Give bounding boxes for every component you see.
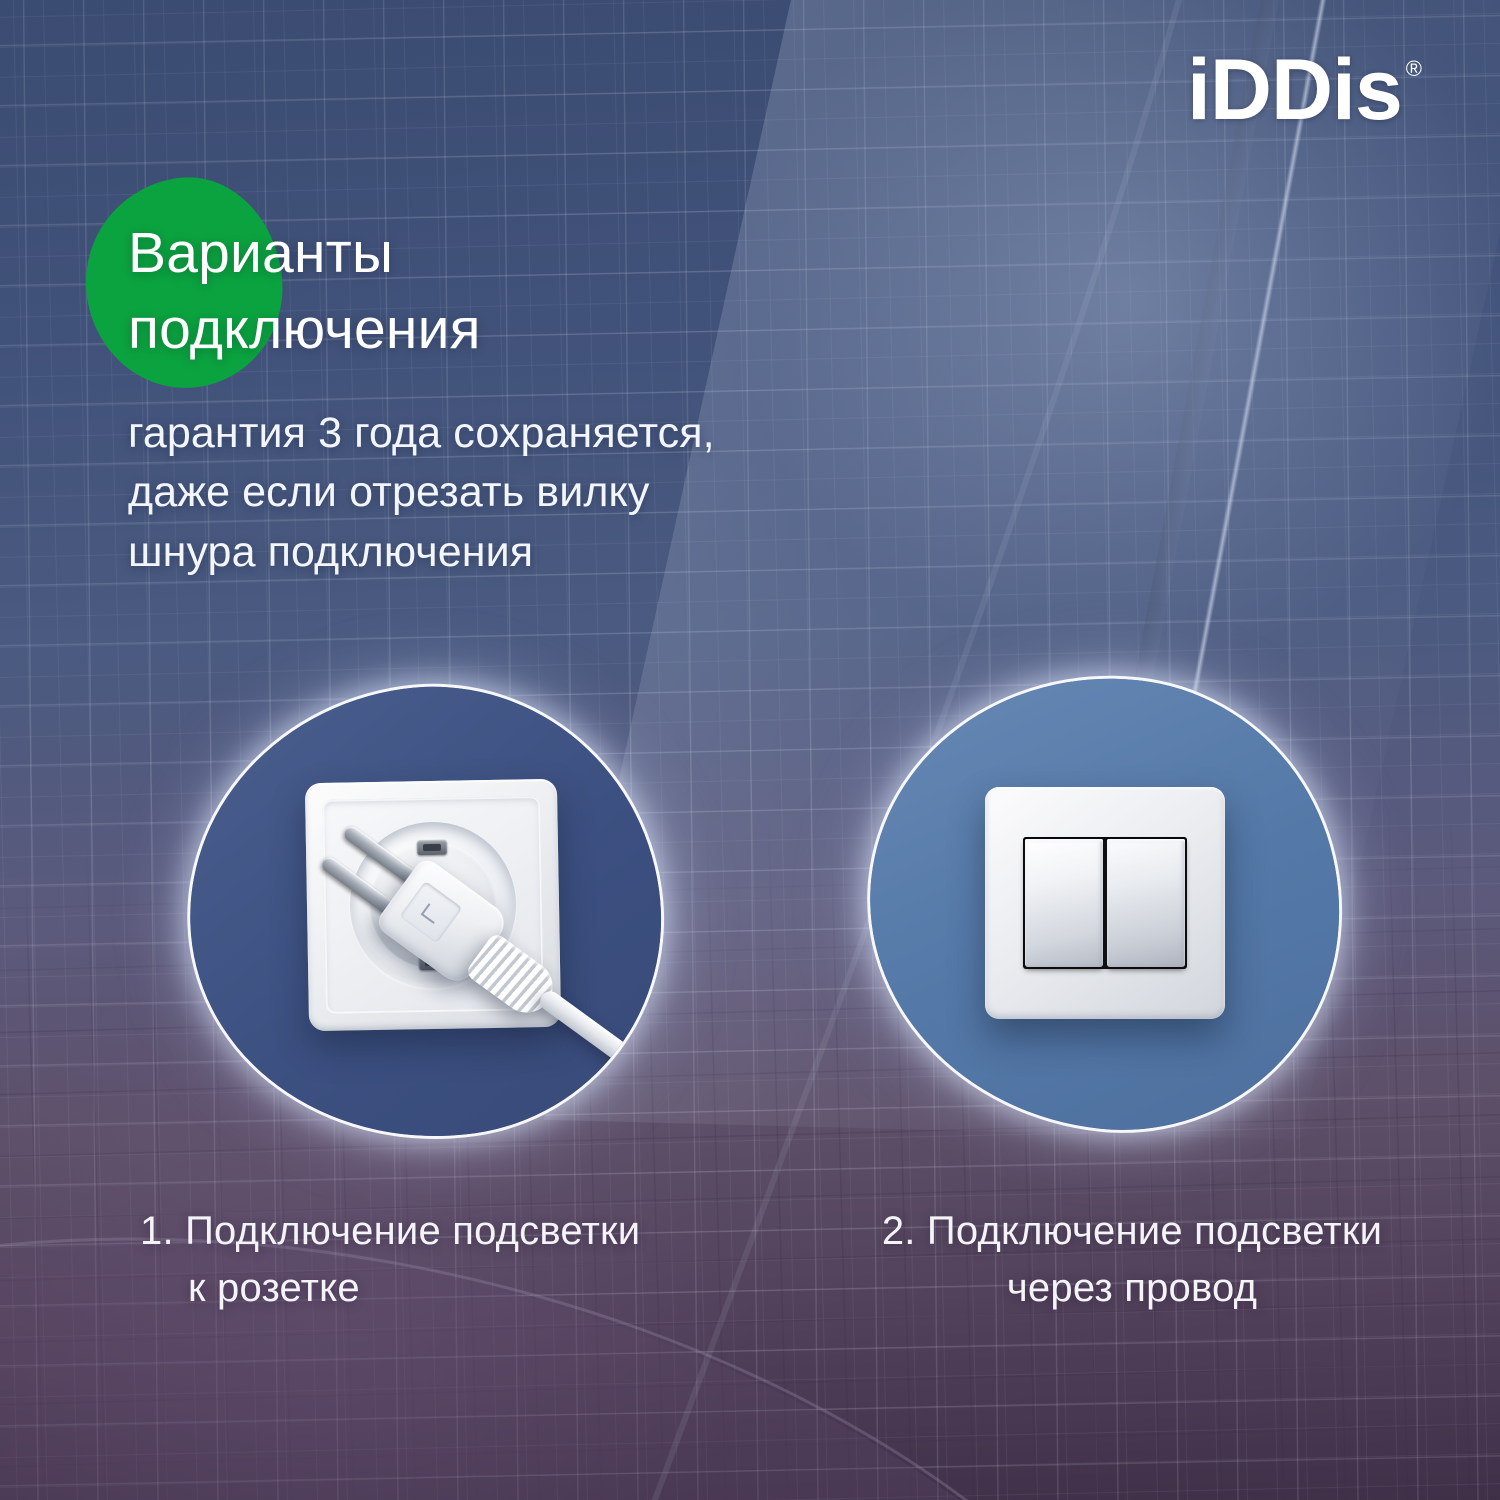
option-1-blob-inner: [190, 688, 660, 1138]
option-2-caption-line-2: через провод: [812, 1260, 1452, 1317]
power-cord: [536, 987, 645, 1074]
page-title-line-1: Варианты: [128, 216, 908, 292]
poster-canvas: iDDis ® Варианты подключения гарантия 3 …: [0, 0, 1500, 1500]
switch-rocker-left: [1025, 839, 1103, 967]
socket-ground-clip-top: [417, 840, 447, 856]
page-subtitle: гарантия 3 года сохраняется, даже если о…: [128, 404, 988, 582]
option-1-caption: 1. Подключение подсветки к розетке: [140, 1203, 780, 1317]
brand-logo: iDDis ®: [1187, 50, 1422, 131]
switch-rocker-right: [1107, 839, 1185, 967]
option-2-blob: [848, 655, 1362, 1152]
option-2-caption: 2. Подключение подсветки через провод: [812, 1203, 1452, 1317]
option-2-image: [870, 678, 1340, 1128]
page-subtitle-line-1: гарантия 3 года сохраняется,: [128, 404, 988, 463]
option-1-blob: [161, 657, 689, 1168]
light-switch-icon: [985, 787, 1225, 1019]
option-1-image: [190, 688, 660, 1138]
page-subtitle-line-2: даже если отрезать вилку: [128, 463, 988, 522]
registered-trademark-icon: ®: [1406, 58, 1422, 80]
option-2-blob-inner: [870, 678, 1340, 1128]
page-subtitle-line-3: шнура подключения: [128, 523, 988, 582]
switch-window: [1023, 837, 1187, 969]
option-2-caption-line-1: 2. Подключение подсветки: [812, 1203, 1452, 1260]
brand-logo-text: iDDis: [1187, 50, 1402, 131]
option-1-caption-line-1: 1. Подключение подсветки: [140, 1203, 780, 1260]
option-1-caption-line-2: к розетке: [140, 1260, 780, 1317]
page-title-line-2: подключения: [128, 292, 908, 368]
page-title: Варианты подключения: [128, 216, 908, 368]
